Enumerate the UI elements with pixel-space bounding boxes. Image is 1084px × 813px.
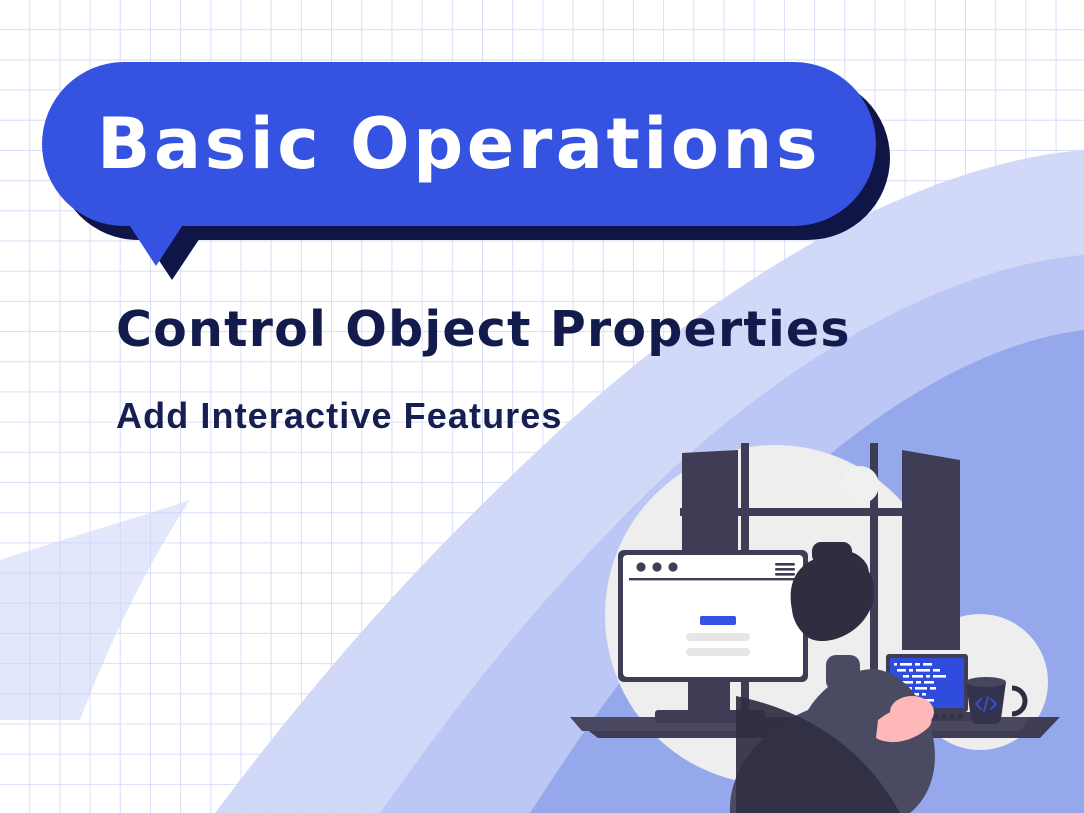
person-neck [826, 655, 860, 691]
browser-divider [629, 578, 797, 580]
hamburger-menu-icon [775, 563, 795, 576]
browser-dot-red [636, 562, 645, 571]
browser-placeholder-line-1 [686, 633, 750, 641]
browser-placeholder-line-2 [686, 648, 750, 656]
browser-dot-green [668, 562, 677, 571]
speech-bubble: Basic Operations [42, 62, 904, 272]
browser-primary-button [700, 616, 736, 625]
browser-dot-yellow [652, 562, 661, 571]
person-hand [890, 696, 934, 728]
developer-illustration [560, 420, 1084, 813]
bubble-title-text: Basic Operations [97, 109, 821, 179]
person-hair-band [812, 542, 852, 564]
speech-bubble-tail [126, 220, 186, 266]
speech-bubble-body: Basic Operations [42, 62, 876, 226]
sun-circle [841, 466, 879, 504]
mug-rim [966, 677, 1006, 687]
page-subtitle: Add Interactive Features [116, 398, 563, 434]
slide-canvas: Basic Operations Control Object Properti… [0, 0, 1084, 813]
page-title: Control Object Properties [116, 305, 851, 354]
wave-sliver [0, 500, 190, 720]
curtain-right [902, 450, 960, 650]
